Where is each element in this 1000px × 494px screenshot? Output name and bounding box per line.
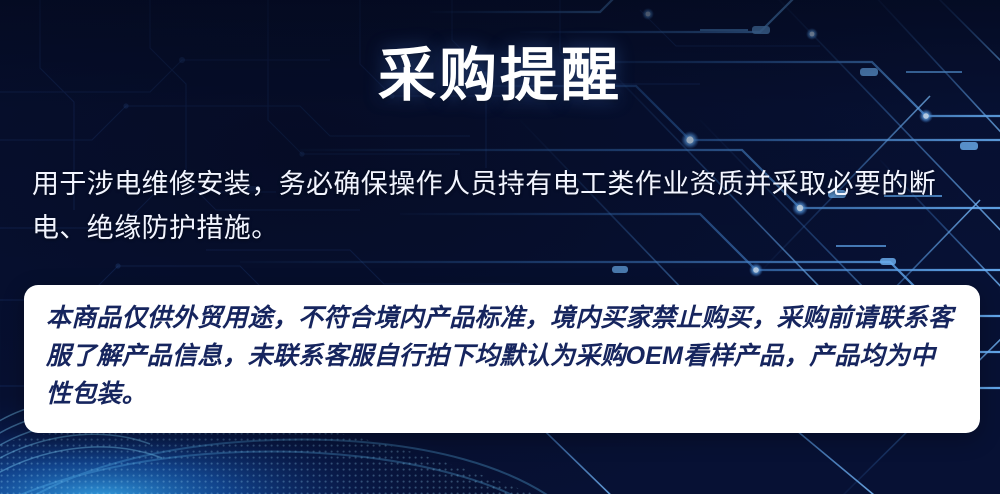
page-title: 采购提醒	[0, 44, 1000, 109]
notice-card: 本商品仅供外贸用途，不符合境内产品标准，境内买家禁止购买，采购前请联系客服了解产…	[24, 285, 980, 433]
purchase-reminder-banner: 采购提醒 用于涉电维修安装，务必确保操作人员持有电工类作业资质并采取必要的断电、…	[0, 0, 1000, 494]
intro-paragraph: 用于涉电维修安装，务必确保操作人员持有电工类作业资质并采取必要的断电、绝缘防护措…	[32, 163, 968, 250]
notice-card-text: 本商品仅供外贸用途，不符合境内产品标准，境内买家禁止购买，采购前请联系客服了解产…	[46, 299, 958, 413]
